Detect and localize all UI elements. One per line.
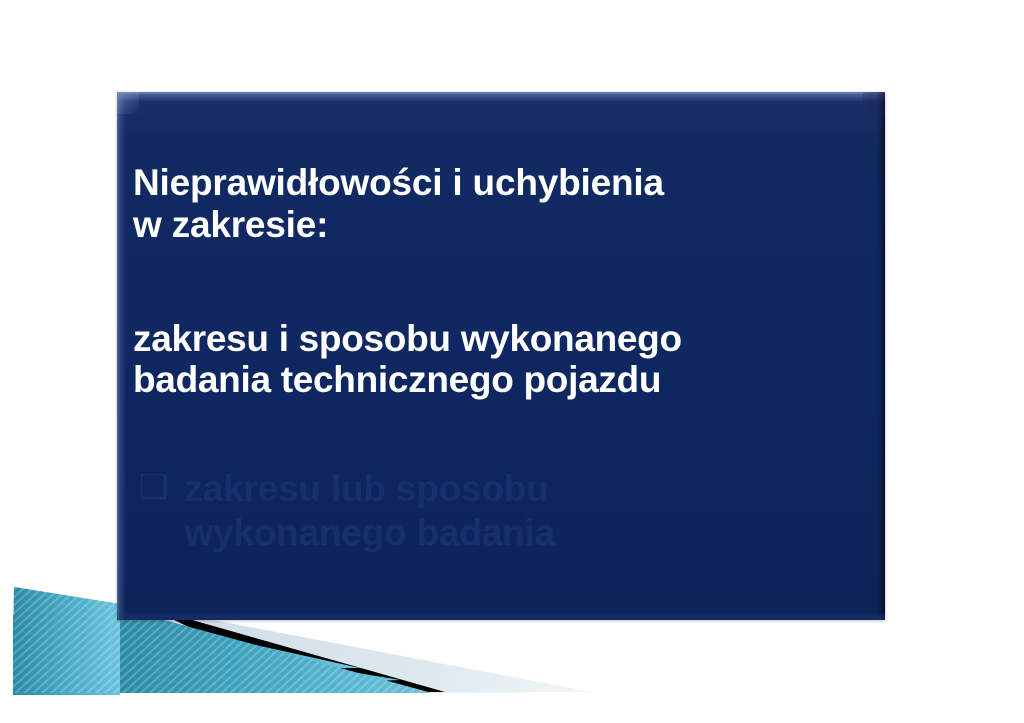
hollow-square-bullet-icon: ❑ bbox=[139, 467, 168, 507]
faded-bullet-item: ❑ zakresu lub sposobu wykonanego badania bbox=[133, 401, 877, 554]
slide-headline: Nieprawidłowości i uchybienia w zakresie… bbox=[133, 162, 877, 246]
teal-shape-main bbox=[120, 608, 432, 693]
panel-bevel-top bbox=[117, 92, 885, 102]
content-panel: Nieprawidłowości i uchybienia w zakresie… bbox=[117, 92, 885, 620]
black-wedge bbox=[150, 608, 445, 692]
panel-bevel-bottom bbox=[117, 612, 885, 620]
slide-canvas: Nieprawidłowości i uchybienia w zakresie… bbox=[0, 0, 1024, 723]
light-triangle-tail bbox=[150, 608, 592, 692]
panel-bevel-right bbox=[876, 92, 885, 620]
panel-bevel-corner-top-right bbox=[863, 92, 885, 114]
faded-bullet-label: zakresu lub sposobu wykonanego badania bbox=[184, 467, 555, 554]
slide-text-stack: Nieprawidłowości i uchybienia w zakresie… bbox=[133, 162, 877, 555]
teal-shape-left bbox=[13, 587, 120, 695]
teal-shape-lower bbox=[13, 615, 400, 695]
panel-bevel-left bbox=[117, 92, 126, 620]
slide-subheadline: zakresu i sposobu wykonanego badania tec… bbox=[133, 246, 877, 402]
panel-bevel-corner-top-left bbox=[117, 92, 139, 114]
